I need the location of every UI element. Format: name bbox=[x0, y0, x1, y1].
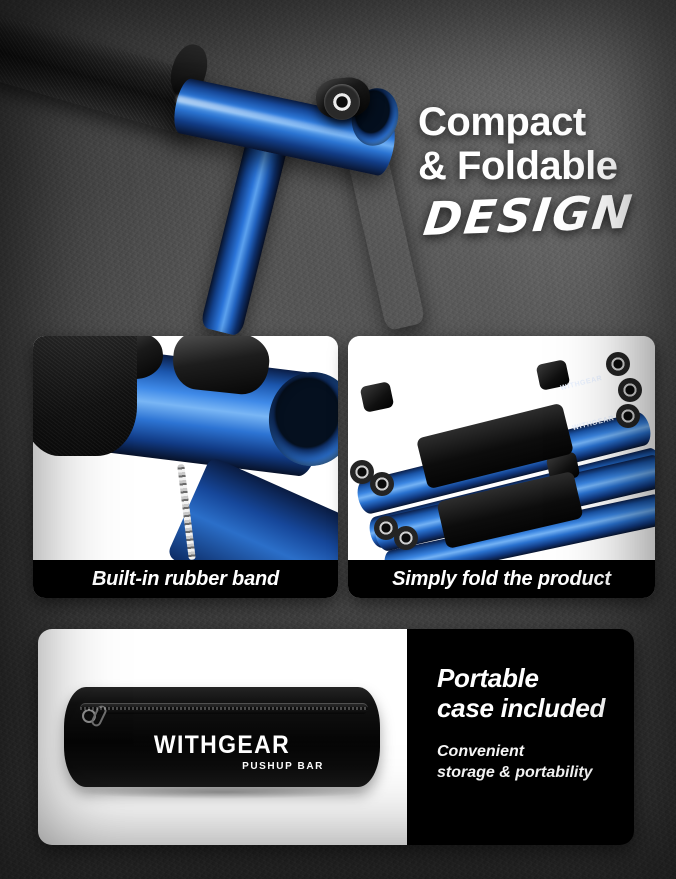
product-marketing-image: Compact & Foldable DESIGN Built-in rubbe… bbox=[0, 0, 676, 879]
vignette-overlay bbox=[0, 0, 676, 879]
